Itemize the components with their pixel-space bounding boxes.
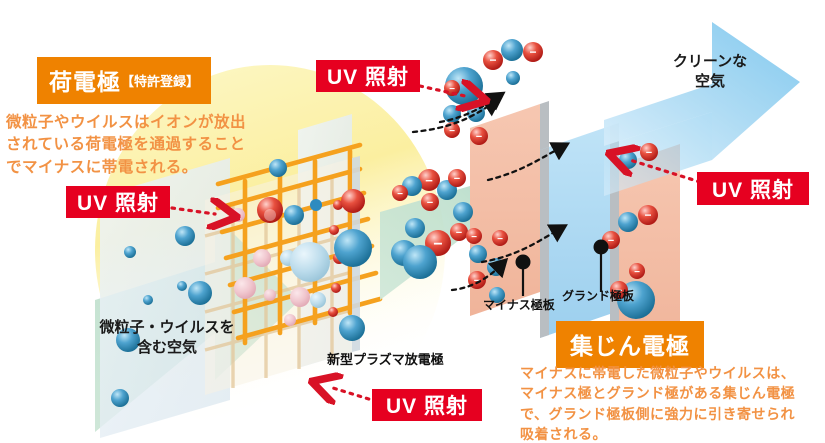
svg-text:−: −	[454, 173, 460, 185]
svg-text:−: −	[476, 131, 482, 143]
collecting-electrode-heading-badge: 集じん電極	[556, 321, 704, 368]
svg-text:−: −	[608, 235, 614, 247]
uv-badge-top: UV 照射	[316, 60, 420, 92]
svg-text:−: −	[427, 197, 433, 209]
svg-text:−: −	[497, 234, 503, 245]
clean-air-arrow	[604, 22, 800, 196]
uv-badge-left-label: UV 照射	[77, 187, 159, 217]
svg-text:−: −	[634, 267, 640, 278]
svg-text:−: −	[646, 147, 652, 159]
svg-text:−: −	[471, 232, 477, 243]
uv-badge-right: UV 照射	[697, 172, 809, 205]
svg-text:−: −	[489, 53, 496, 67]
svg-text:−: −	[425, 173, 433, 188]
uv-badge-top-label: UV 照射	[327, 61, 409, 91]
svg-text:−: −	[456, 227, 462, 239]
charging-electrode-body: 微粒子やウイルスはイオンが放出 されている荷電極を通過すること でマイナスに帯電…	[6, 112, 246, 179]
charging-electrode-patent-note: 【特許登録】	[121, 71, 199, 90]
inlet-air-label: 微粒子・ウイルスを 含む空気	[82, 318, 252, 359]
outlet-air-label: クリーンな 空気	[650, 52, 770, 93]
svg-text:−: −	[397, 189, 403, 200]
charging-electrode-heading-badge: 荷電極 【特許登録】	[37, 57, 211, 104]
collecting-electrode-heading: 集じん電極	[570, 327, 690, 361]
diagram-canvas: − − − − − − − − − −	[0, 0, 825, 443]
plasma-electrode-label: 新型プラズマ放電極	[327, 349, 444, 368]
svg-text:−: −	[644, 208, 651, 222]
uv-badge-bottom: UV 照射	[372, 389, 482, 421]
svg-text:−: −	[529, 45, 536, 59]
collecting-electrode-body: マイナスに帯電した微粒子やウイルスは、 マイナス極とグランド極がある集じん電極 …	[520, 363, 795, 443]
uv-badge-left: UV 照射	[66, 186, 170, 218]
charging-electrode-heading: 荷電極	[49, 63, 121, 97]
svg-text:−: −	[449, 126, 455, 137]
svg-text:−: −	[433, 236, 442, 253]
uv-badge-right-label: UV 照射	[712, 174, 794, 204]
ground-plate-label: グランド極板	[562, 287, 634, 304]
uv-badge-bottom-label: UV 照射	[386, 390, 468, 420]
minus-plate-label: マイナス極板	[483, 296, 555, 313]
